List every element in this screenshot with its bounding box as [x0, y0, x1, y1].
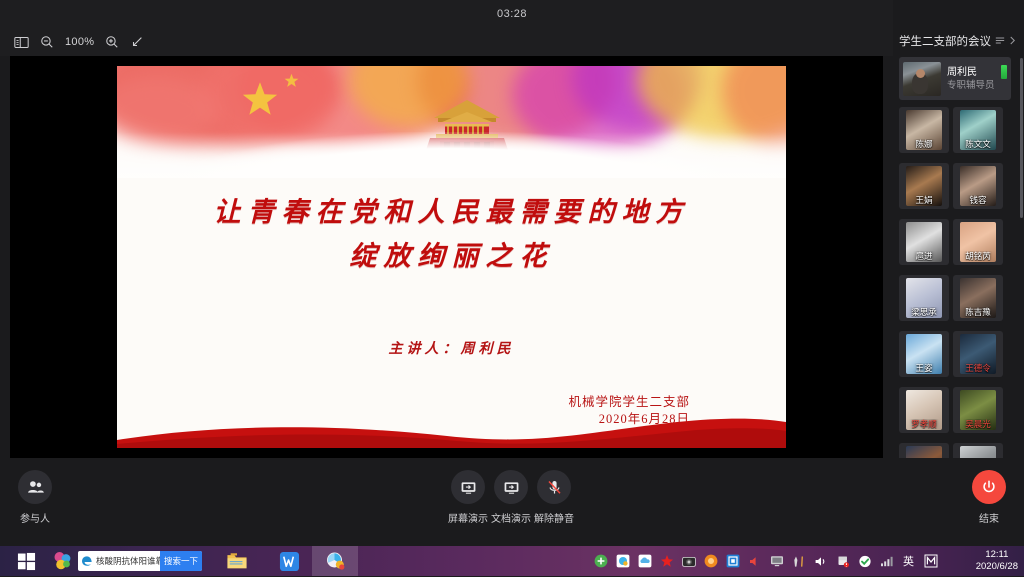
speaker-role: 专职辅导员: [947, 79, 1001, 92]
slide-speaker-line: 主讲人：周利民: [117, 338, 786, 358]
participant-name: 陈文文: [960, 139, 996, 149]
list-icon[interactable]: [995, 36, 1005, 47]
flag-star-icon: [239, 78, 281, 125]
participant-name: 吴晨光: [960, 419, 996, 429]
fit-screen-icon[interactable]: [130, 32, 144, 52]
qq-browser-tray-icon[interactable]: [615, 554, 630, 569]
add-green-icon[interactable]: [593, 554, 608, 569]
clock-time: 12:11: [985, 549, 1008, 561]
slide-canvas: 让青春在党和人民最需要的地方 绽放绚丽之花 主讲人：周利民 机械学院学生二支部 …: [117, 66, 786, 448]
search-input[interactable]: 核酸阴抗体阳谁靠谱 搜索一下: [78, 551, 202, 571]
zoom-level[interactable]: 100%: [65, 36, 94, 48]
participant-tile[interactable]: 王德令: [953, 331, 1003, 377]
monitor-icon[interactable]: [769, 554, 784, 569]
ime-mode-icon[interactable]: [923, 554, 938, 569]
ime-indicator[interactable]: 英: [901, 554, 916, 569]
participant-grid: 陈娜陈文文王娟钱容扈进胡铭芮梁思承陈吉豫王姿王德令罗孝顺吴晨光袁长平孙俊武: [899, 107, 1011, 499]
meeting-app-window: 03:28 100%: [0, 0, 1024, 576]
chevron-right-icon[interactable]: [1009, 36, 1016, 47]
wps-writer-icon[interactable]: [266, 546, 312, 576]
mic-muted-icon: [537, 470, 571, 504]
edge-icon: [78, 555, 95, 567]
volume-icon[interactable]: [813, 554, 828, 569]
speaker-red-icon[interactable]: [747, 554, 762, 569]
participant-tile[interactable]: 钱容: [953, 163, 1003, 209]
participant-tile[interactable]: 扈进: [899, 219, 949, 265]
windows-taskbar: 核酸阴抗体阳谁靠谱 搜索一下 英: [0, 546, 1024, 576]
participant-name: 扈进: [906, 251, 942, 261]
slide-bottom-wave: [117, 406, 786, 448]
participant-tile[interactable]: 吴晨光: [953, 387, 1003, 433]
active-speaker-tile[interactable]: 周利民 专职辅导员: [899, 57, 1011, 100]
avatar: [903, 62, 941, 96]
slide-title-line-2: 绽放绚丽之花: [117, 234, 786, 278]
slide-banner-image: [117, 66, 786, 178]
title-bar: 03:28: [0, 0, 1024, 28]
shield-green-icon[interactable]: [857, 554, 872, 569]
participant-name: 陈娜: [906, 139, 942, 149]
participant-tile[interactable]: 陈娜: [899, 107, 949, 153]
participant-name: 梁思承: [906, 307, 942, 317]
participant-name: 陈吉豫: [960, 307, 996, 317]
qq-browser-icon[interactable]: [312, 546, 358, 576]
flag-star-small-icon: [283, 72, 300, 94]
participant-name: 王娟: [906, 195, 942, 205]
clock-date: 2020/6/28: [976, 561, 1018, 573]
file-explorer-icon[interactable]: [214, 546, 260, 576]
end-meeting-button[interactable]: 结束: [954, 470, 1024, 525]
panel-header: 学生二支部的会议: [893, 28, 1024, 54]
participant-name: 胡铭芮: [960, 251, 996, 261]
red-star-icon[interactable]: [659, 554, 674, 569]
layout-icon[interactable]: [14, 32, 29, 52]
mic-active-icon: [1001, 65, 1007, 79]
taskbar-clock[interactable]: 12:11 2020/6/28: [976, 546, 1018, 576]
orange-circle-icon[interactable]: [703, 554, 718, 569]
participant-tile[interactable]: 王娟: [899, 163, 949, 209]
panel-scrollbar[interactable]: [1020, 58, 1023, 218]
slide-title-line-1: 让青春在党和人民最需要的地方: [117, 190, 786, 234]
speaker-name: 周利民: [947, 66, 1001, 79]
meeting-controls-bar: 参与人 屏幕演示 文档演示 解除静音 结束: [0, 458, 1024, 546]
network-icon[interactable]: [879, 554, 894, 569]
unmute-label: 解除静音: [519, 510, 589, 525]
participant-name: 王德令: [960, 363, 996, 373]
end-meeting-label: 结束: [954, 510, 1024, 525]
participants-button[interactable]: 参与人: [0, 470, 70, 525]
flag-icon[interactable]: [835, 554, 850, 569]
zoom-out-icon[interactable]: [40, 32, 54, 52]
participant-tile[interactable]: 陈吉豫: [953, 275, 1003, 321]
presentation-stage[interactable]: 让青春在党和人民最需要的地方 绽放绚丽之花 主讲人：周利民 机械学院学生二支部 …: [10, 56, 883, 458]
view-toolbar: 100%: [0, 28, 893, 56]
qq-colorful-icon[interactable]: [52, 550, 74, 572]
meeting-title: 学生二支部的会议: [899, 33, 991, 49]
participant-name: 王姿: [906, 363, 942, 373]
participant-tile[interactable]: 胡铭芮: [953, 219, 1003, 265]
blue-app-icon[interactable]: [725, 554, 740, 569]
search-text: 核酸阴抗体阳谁靠谱: [95, 555, 160, 567]
cloud-icon[interactable]: [637, 554, 652, 569]
zoom-in-icon[interactable]: [105, 32, 119, 52]
power-icon: [972, 470, 1006, 504]
slide-title-block: 让青春在党和人民最需要的地方 绽放绚丽之花: [117, 190, 786, 278]
tools-icon[interactable]: [791, 554, 806, 569]
search-submit-button[interactable]: 搜索一下: [160, 551, 202, 571]
meeting-timer: 03:28: [0, 0, 1024, 28]
people-icon: [18, 470, 52, 504]
participant-name: 钱容: [960, 195, 996, 205]
participant-tile[interactable]: 梁思承: [899, 275, 949, 321]
system-tray: 英: [593, 546, 938, 576]
participant-tile[interactable]: 王姿: [899, 331, 949, 377]
participant-tile[interactable]: 陈文文: [953, 107, 1003, 153]
unmute-button[interactable]: 解除静音: [519, 470, 589, 525]
participants-label: 参与人: [0, 510, 70, 525]
windows-start-icon[interactable]: [4, 546, 48, 576]
camera-icon[interactable]: [681, 554, 696, 569]
participant-tile[interactable]: 罗孝顺: [899, 387, 949, 433]
participant-name: 罗孝顺: [906, 419, 942, 429]
